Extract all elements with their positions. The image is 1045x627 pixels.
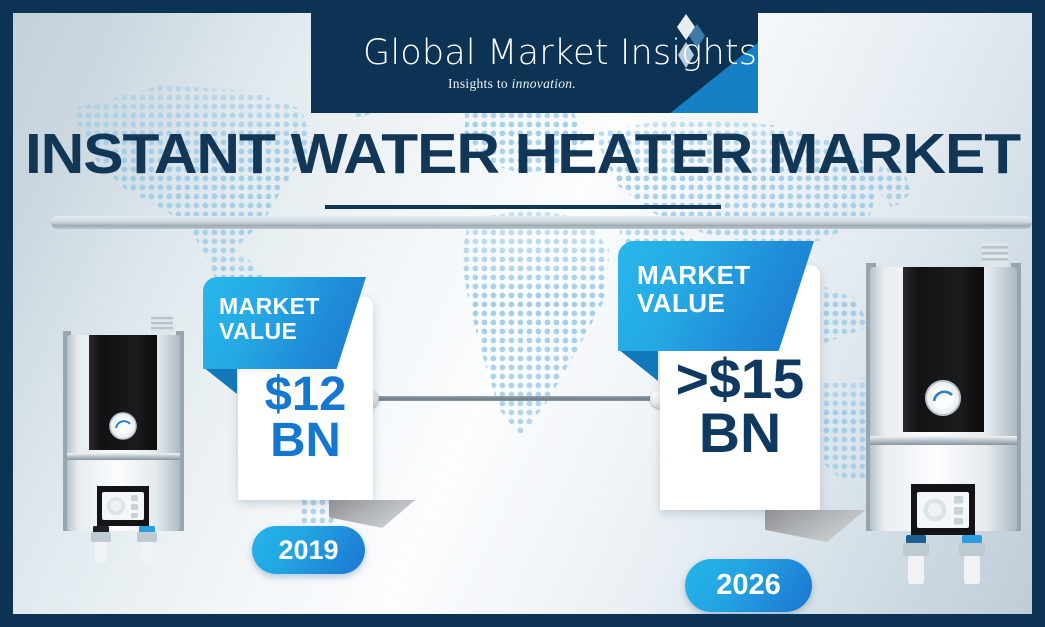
brand-tagline: Insights to innovation.: [448, 76, 576, 92]
water-heater-icon-right: [856, 241, 1031, 593]
ribbon-label: MARKET VALUE: [219, 294, 320, 344]
tagline-italic: innovation.: [512, 76, 576, 91]
title-underline: [325, 205, 721, 209]
market-value-card-2019: MARKET VALUE $12 BN: [199, 275, 389, 525]
market-value-card-2026: MARKET VALUE >$15 BN: [613, 239, 858, 529]
infographic-root: INSTANT WATER HEATER MARKET MARKET VALUE…: [0, 0, 1045, 627]
year-badge-2019: 2019: [252, 526, 365, 574]
brand-name: Global Market Insights: [363, 33, 757, 73]
page-title: INSTANT WATER HEATER MARKET: [13, 121, 1032, 187]
brand-logo: Global Market Insights Insights to innov…: [311, 13, 758, 113]
market-value-amount: >$15 BN: [658, 352, 821, 460]
infographic-canvas: INSTANT WATER HEATER MARKET MARKET VALUE…: [13, 13, 1032, 614]
water-heater-icon-left: [51, 313, 196, 578]
market-value-amount: $12 BN: [237, 372, 375, 464]
year-badge-2026: 2026: [685, 559, 812, 612]
ribbon-label: MARKET VALUE: [637, 261, 751, 317]
ribbon-fold: [618, 349, 658, 381]
header-divider-bar: [51, 216, 1032, 229]
ribbon-fold: [203, 367, 237, 394]
tagline-prefix: Insights to: [448, 76, 512, 91]
